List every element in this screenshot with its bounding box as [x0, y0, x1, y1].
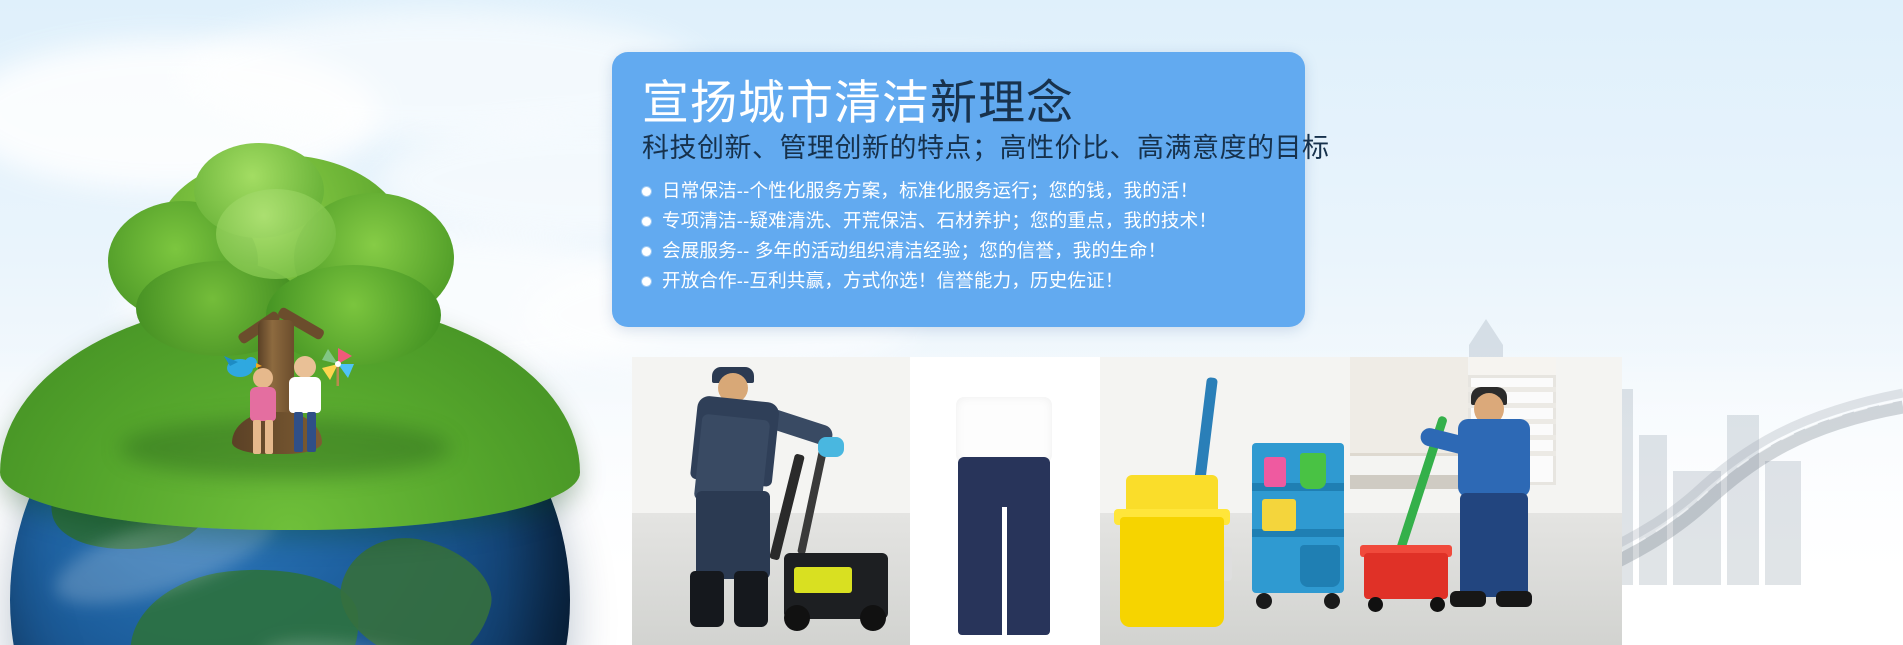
page-subtitle: 科技创新、管理创新的特点；高性价比、高满意度的目标	[642, 132, 1305, 164]
cart-wheel	[1256, 593, 1272, 609]
worker-legs	[696, 491, 770, 579]
worker-boot	[734, 571, 768, 627]
yellow-bucket	[1120, 517, 1224, 627]
foliage-blob	[216, 189, 336, 279]
feature-list: 日常保洁--个性化服务方案，标准化服务运行；您的钱，我的活！ 专项清洁--疑难清…	[642, 176, 1305, 296]
earth-with-tree-illustration	[0, 150, 600, 645]
list-item: 开放合作--互利共赢，方式你选！信誉能力，历史佐证！	[642, 266, 1305, 296]
child-leg	[265, 420, 273, 454]
photo-cleaning-uniform-trousers	[910, 357, 1100, 645]
cart-wheel	[1430, 597, 1445, 612]
worker-glove	[818, 437, 844, 457]
child-torso	[250, 387, 276, 421]
cleaning-service-banner: 宣扬城市清洁新理念 科技创新、管理创新的特点；高性价比、高满意度的目标 日常保洁…	[0, 0, 1903, 645]
photo-yellow-mop-bucket	[1100, 357, 1240, 645]
child-leg	[307, 412, 316, 452]
yellow-container	[1262, 499, 1296, 531]
pink-bottle	[1264, 457, 1286, 487]
bullet-dot-icon	[642, 187, 651, 196]
list-item: 日常保洁--个性化服务方案，标准化服务运行；您的钱，我的活！	[642, 176, 1305, 206]
photo-strip	[632, 357, 1622, 645]
red-cleaning-cart	[1364, 553, 1448, 599]
photo-worker-with-floor-scrubber	[632, 357, 910, 645]
headline-secondary: 新理念	[930, 76, 1074, 129]
worker-trousers	[1460, 493, 1528, 597]
landmass-shape	[328, 524, 503, 645]
list-item: 会展服务-- 多年的活动组织清洁经验；您的信誉，我的生命！	[642, 236, 1305, 266]
child-leg	[294, 412, 303, 452]
child-head	[294, 356, 316, 378]
scrubber-control-panel	[794, 567, 852, 593]
kitchen-counter	[1350, 475, 1468, 489]
child-leg	[253, 420, 261, 454]
list-item: 专项清洁--疑难清洗、开荒保洁、石材养护；您的重点，我的技术！	[642, 206, 1305, 236]
list-item-label: 开放合作--互利共赢，方式你选！信誉能力，历史佐证！	[662, 266, 1124, 296]
bullet-dot-icon	[642, 277, 651, 286]
pinwheel-icon	[318, 346, 358, 386]
bullet-dot-icon	[642, 217, 651, 226]
list-item-label: 专项清洁--疑难清洗、开荒保洁、石材养护；您的重点，我的技术！	[662, 206, 1217, 236]
page-title: 宣扬城市清洁新理念	[642, 78, 1305, 128]
worker-shoe	[1496, 591, 1532, 607]
headline-primary: 宣扬城市清洁	[642, 76, 930, 129]
bullet-dot-icon	[642, 247, 651, 256]
trouser-gap	[1002, 507, 1007, 635]
cart-wheel	[1368, 597, 1383, 612]
worker-torso	[1458, 419, 1530, 497]
blue-bird-icon	[222, 350, 262, 384]
cart-wheel	[1324, 593, 1340, 609]
photo-worker-mopping-kitchen	[1350, 357, 1622, 645]
worker-shoe	[1450, 591, 1486, 607]
blue-bucket	[1300, 545, 1340, 587]
list-item-label: 日常保洁--个性化服务方案，标准化服务运行；您的钱，我的活！	[662, 176, 1198, 206]
child-torso	[289, 377, 321, 413]
photo-cleaning-supply-cart	[1240, 357, 1350, 645]
worker-boot	[690, 571, 724, 627]
info-card: 宣扬城市清洁新理念 科技创新、管理创新的特点；高性价比、高满意度的目标 日常保洁…	[612, 52, 1305, 327]
scrubber-wheel	[860, 605, 886, 631]
scrubber-wheel	[784, 605, 810, 631]
uniform-shirt	[956, 397, 1052, 463]
green-bottle	[1300, 453, 1326, 489]
list-item-label: 会展服务-- 多年的活动组织清洁经验；您的信誉，我的生命！	[662, 236, 1166, 266]
